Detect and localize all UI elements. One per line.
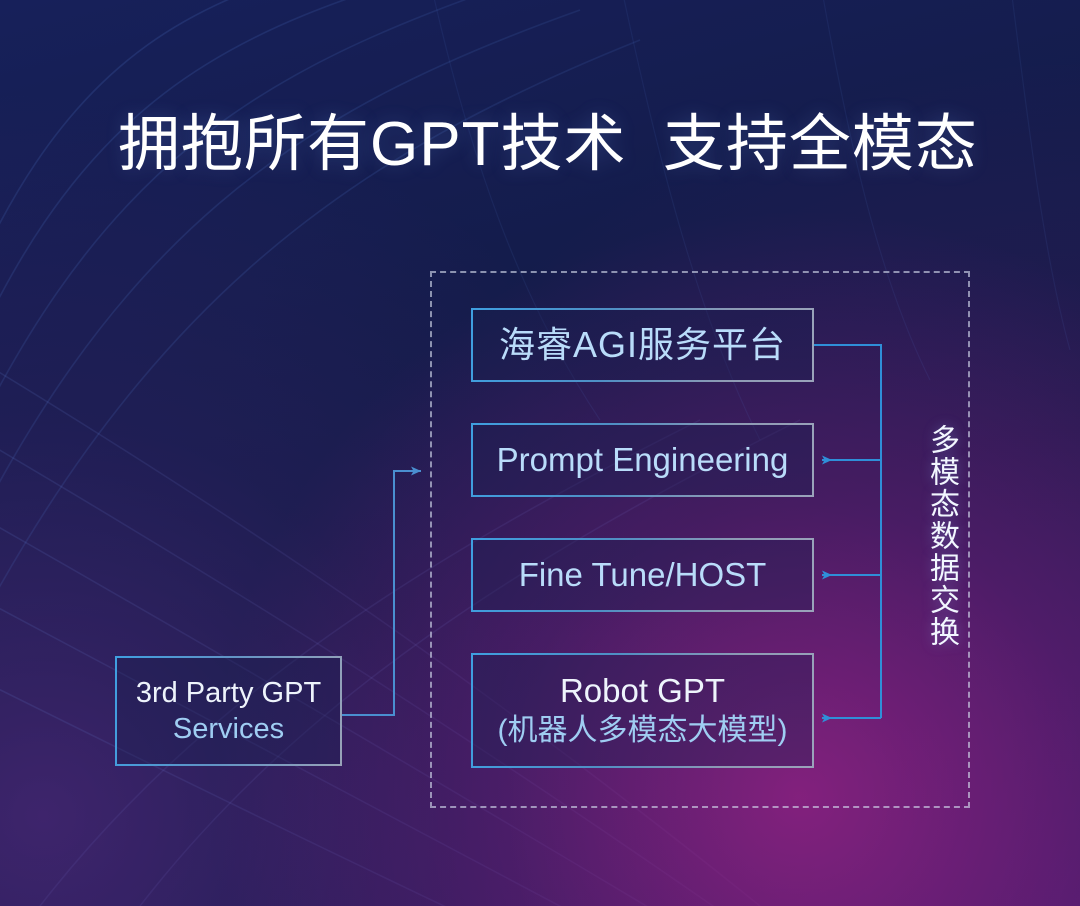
box-third-party-gpt-title: 3rd Party GPT bbox=[136, 676, 321, 710]
box-third-party-gpt[interactable]: 3rd Party GPT Services bbox=[115, 656, 342, 766]
box-prompt-engineering-label: Prompt Engineering bbox=[497, 441, 789, 480]
box-fine-tune-host-label: Fine Tune/HOST bbox=[519, 556, 767, 595]
page-title: 拥抱所有GPT技术 支持全模态 bbox=[118, 108, 978, 181]
box-agi-platform-label: 海睿AGI服务平台 bbox=[499, 324, 786, 366]
box-robot-gpt-title: Robot GPT bbox=[560, 672, 725, 711]
multimodal-data-exchange-label: 多模态数据交换 bbox=[913, 424, 957, 648]
box-fine-tune-host[interactable]: Fine Tune/HOST bbox=[471, 538, 814, 612]
box-prompt-engineering[interactable]: Prompt Engineering bbox=[471, 423, 814, 497]
box-third-party-gpt-subtitle: Services bbox=[173, 712, 284, 746]
box-agi-platform[interactable]: 海睿AGI服务平台 bbox=[471, 308, 814, 382]
box-robot-gpt-subtitle: (机器人多模态大模型) bbox=[498, 713, 788, 748]
slide-canvas: 拥抱所有GPT技术 支持全模态 海睿AGI服务平台 Prompt Engi bbox=[0, 0, 1080, 906]
box-robot-gpt[interactable]: Robot GPT (机器人多模态大模型) bbox=[471, 653, 814, 768]
